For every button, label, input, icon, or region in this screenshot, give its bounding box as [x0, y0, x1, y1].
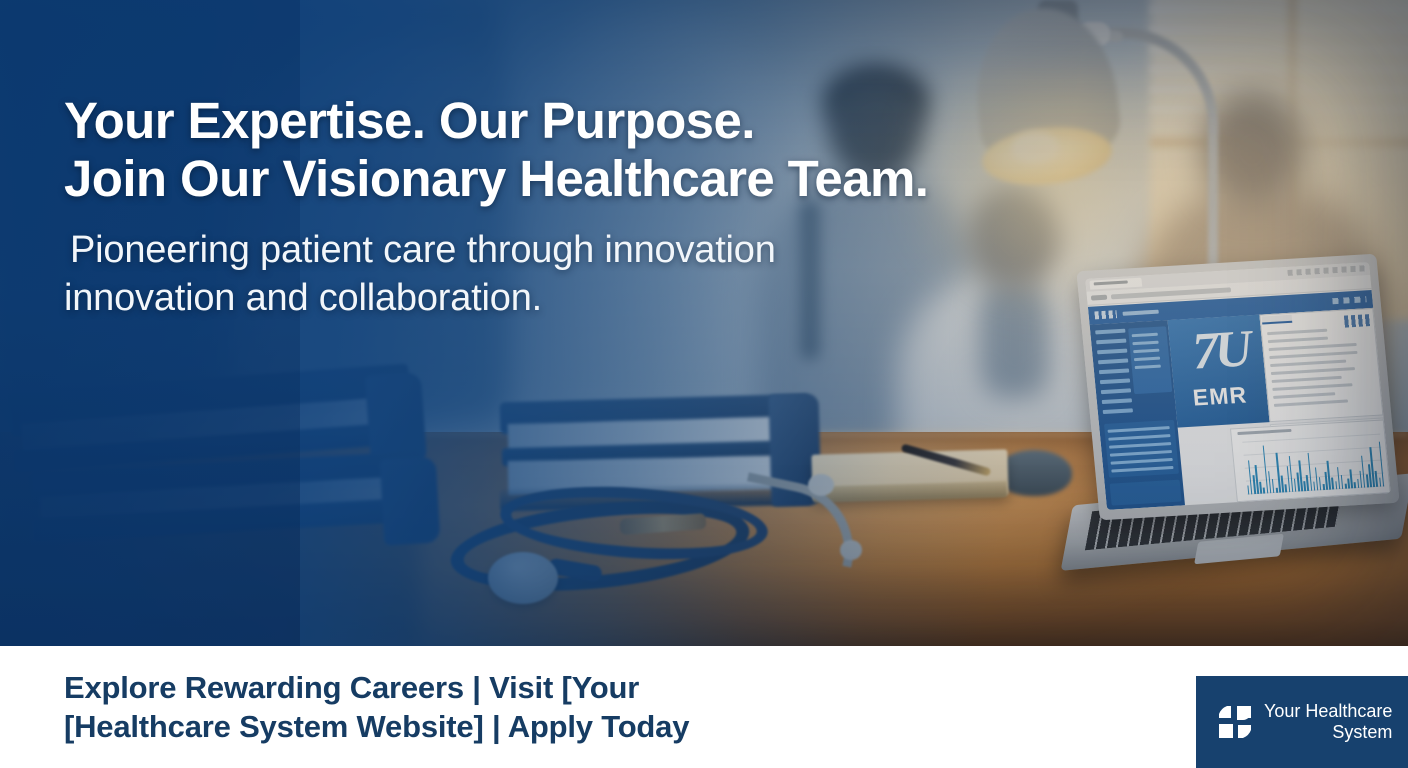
four-petal-pinwheel-icon — [1218, 705, 1252, 739]
brand-logo-block[interactable]: Your Healthcare System — [1196, 676, 1408, 768]
headline-line-2: Join Our Visionary Healthcare Team. — [64, 150, 894, 208]
headline-line-1: Your Expertise. Our Purpose. — [64, 92, 894, 150]
emr-content-logo-icon — [1344, 314, 1371, 327]
cta-text[interactable]: Explore Rewarding Careers | Visit [Your … — [64, 668, 824, 746]
chart-bar — [1345, 484, 1347, 489]
cta-line-1: Explore Rewarding Careers | Visit [Your — [64, 668, 824, 707]
hero-photo: 7U EMR — [0, 0, 1408, 646]
subheadline: Pioneering patient care through innovati… — [64, 226, 894, 322]
chart-bar — [1354, 482, 1356, 489]
emr-logo-text: EMR — [1192, 382, 1249, 411]
chart-bar — [1303, 481, 1306, 491]
chart-bar — [1357, 479, 1359, 488]
chart-bar — [1285, 484, 1287, 492]
chart-bar — [1332, 478, 1335, 490]
stethoscope-eartip — [840, 540, 862, 560]
chart-bar — [1247, 485, 1249, 494]
subheadline-line-1: Pioneering patient care through innovati… — [64, 226, 894, 274]
browser-nav-icons — [1091, 295, 1107, 301]
stethoscope — [440, 478, 850, 606]
chart-bar — [1323, 483, 1325, 490]
brand-name-line-1: Your Healthcare — [1264, 701, 1392, 722]
laptop: 7U EMR — [1066, 262, 1408, 592]
chart-bar — [1341, 475, 1344, 489]
bar-chart — [1242, 435, 1385, 495]
healthcare-recruitment-banner: 7U EMR — [0, 0, 1408, 768]
sidebar-card-secondary — [1110, 480, 1182, 506]
chart-bar — [1272, 479, 1275, 493]
laptop-screen: 7U EMR — [1085, 262, 1391, 510]
chart-bar — [1263, 487, 1265, 494]
brand-logo-text: Your Healthcare System — [1264, 701, 1392, 743]
chart-bar — [1259, 482, 1262, 494]
chart-bar — [1335, 481, 1337, 489]
brand-name-line-2: System — [1264, 722, 1392, 743]
cta-line-2: [Healthcare System Website] | Apply Toda… — [64, 707, 824, 746]
hero-copy: Your Expertise. Our Purpose. Join Our Vi… — [64, 92, 894, 322]
stethoscope-chestpiece — [488, 552, 558, 604]
page-title: Your Expertise. Our Purpose. Join Our Vi… — [64, 92, 894, 208]
chart-bar — [1315, 467, 1319, 490]
chart-gridline — [1242, 434, 1380, 443]
chart-bar — [1347, 478, 1350, 488]
chart-bar — [1350, 469, 1353, 489]
chart-title — [1237, 429, 1291, 435]
footer-bar: Explore Rewarding Careers | Visit [Your … — [0, 646, 1408, 768]
subheadline-line-2: innovation and collaboration. — [64, 274, 894, 322]
chart-bar — [1379, 478, 1381, 487]
chart-bar — [1313, 481, 1315, 490]
chart-bar — [1319, 477, 1322, 490]
chart-bar — [1276, 488, 1278, 493]
stethoscope-eartip — [808, 474, 834, 496]
chart-bar — [1337, 467, 1341, 489]
emr-chart-panel — [1230, 419, 1391, 502]
chart-bar — [1268, 471, 1272, 493]
binder-left-bottom-spine — [380, 457, 441, 546]
emr-header-logo-icon — [1094, 310, 1117, 319]
emr-monogram-icon: 7U — [1190, 322, 1249, 381]
